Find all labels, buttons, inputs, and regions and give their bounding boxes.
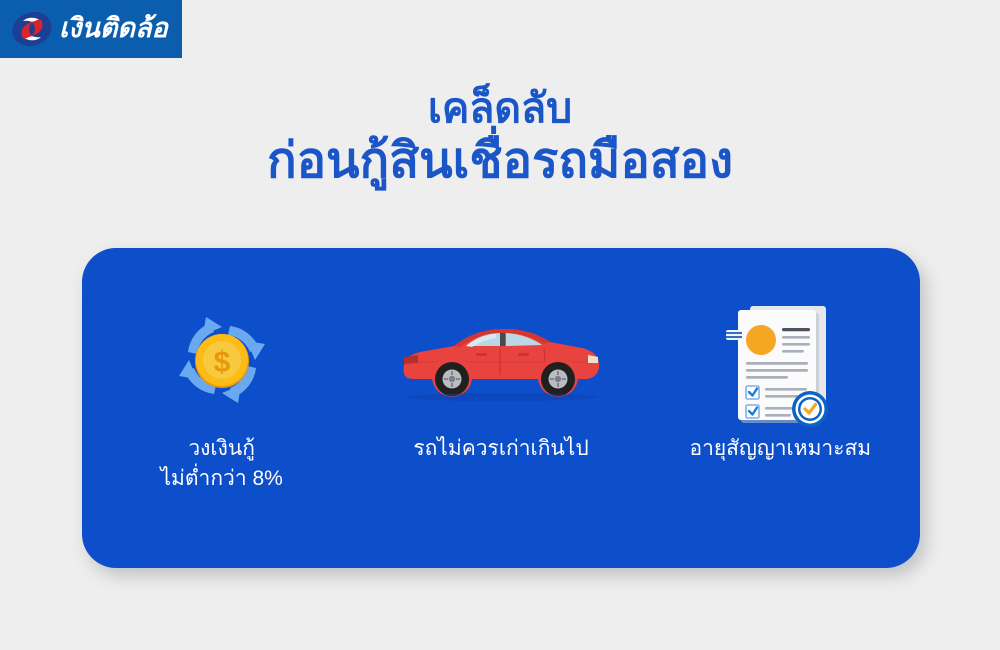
feature-loan-amount-art: $ <box>170 300 274 420</box>
swirl-logo-icon <box>10 10 54 48</box>
feature-loan-amount-label: วงเงินกู้ ไม่ต่ำกว่า 8% <box>160 434 282 495</box>
feature-car-age: รถไม่ควรเก่าเกินไป <box>376 300 626 464</box>
red-sedan-car-icon <box>396 315 606 405</box>
svg-text:$: $ <box>213 346 230 379</box>
feature-contract-term: อายุสัญญาเหมาะสม <box>655 300 905 464</box>
feature-car-age-label: รถไม่ควรเก่าเกินไป <box>413 434 588 464</box>
feature-loan-amount: $ วงเงินกู้ ไม่ต่ำกว่า 8% <box>97 300 347 495</box>
feature-contract-term-art <box>720 300 840 420</box>
brand-logo-text: เงินติดล้อ <box>59 15 168 42</box>
features-list: $ วงเงินกู้ ไม่ต่ำกว่า 8% <box>82 248 920 568</box>
feature-car-age-art <box>396 300 606 420</box>
page-title: เคล็ดลับ ก่อนกู้สินเชื่อรถมือสอง <box>0 86 1000 189</box>
coin-recycle-icon: $ <box>170 308 274 412</box>
feature-contract-term-label: อายุสัญญาเหมาะสม <box>689 434 871 464</box>
features-card: $ วงเงินกู้ ไม่ต่ำกว่า 8% <box>82 248 920 568</box>
brand-logo-bar[interactable]: เงินติดล้อ <box>0 0 182 58</box>
page-title-line2: ก่อนกู้สินเชื่อรถมือสอง <box>0 134 1000 189</box>
page-title-line1: เคล็ดลับ <box>0 86 1000 132</box>
contract-document-icon <box>720 300 840 430</box>
